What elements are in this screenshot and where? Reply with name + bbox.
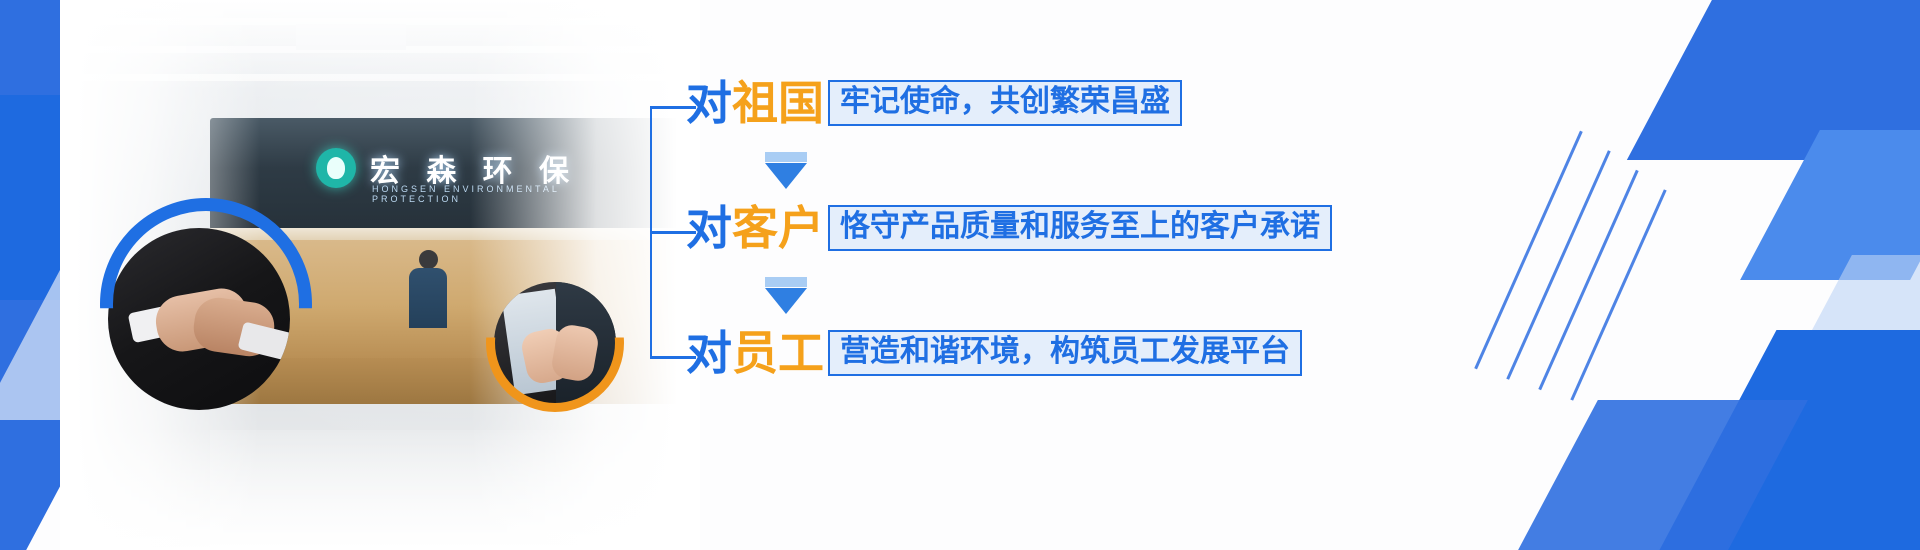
slogan-row-country: 对 祖国 牢记使命，共创繁荣昌盛 bbox=[686, 80, 1182, 126]
decoration-right-shape-2 bbox=[1740, 130, 1920, 280]
slogan-prefix: 对 bbox=[686, 330, 732, 376]
decoration-right-line-3 bbox=[1538, 170, 1638, 390]
slogan-statement: 恪守产品质量和服务至上的客户承诺 bbox=[840, 209, 1320, 244]
decoration-right-line-2 bbox=[1506, 150, 1610, 380]
decoration-right-line-4 bbox=[1570, 189, 1666, 400]
slogan-prefix: 对 bbox=[686, 80, 732, 126]
arrow-triangle bbox=[765, 288, 807, 314]
arrow-top-bar bbox=[765, 277, 807, 287]
slogan-row-employee: 对 员工 营造和谐环境，构筑员工发展平台 bbox=[686, 330, 1302, 376]
slogan-block: 对 祖国 牢记使命，共创繁荣昌盛 对 客户 恪守产品质量和服务至上的客户承诺 对… bbox=[650, 58, 1370, 408]
slogan-statement-box: 牢记使命，共创繁荣昌盛 bbox=[828, 80, 1182, 126]
slogan-statement: 牢记使命，共创繁荣昌盛 bbox=[840, 84, 1170, 119]
promo-banner: 宏 森 环 保 HONGSEN ENVIRONMENTAL PROTECTION bbox=[0, 0, 1920, 550]
arrow-top-bar bbox=[765, 152, 807, 162]
decoration-right-shape-4 bbox=[1502, 400, 1808, 550]
slogan-row-customer: 对 客户 恪守产品质量和服务至上的客户承诺 bbox=[686, 205, 1332, 251]
arrow-triangle bbox=[765, 163, 807, 189]
slogan-subject: 员工 bbox=[732, 330, 824, 376]
slogan-prefix: 对 bbox=[686, 205, 732, 251]
company-logo-icon bbox=[316, 148, 356, 188]
decoration-right-shape-5 bbox=[1788, 255, 1920, 375]
slogan-subject: 客户 bbox=[732, 205, 824, 251]
slogan-statement: 营造和谐环境，构筑员工发展平台 bbox=[840, 334, 1290, 369]
shirt-cuff-2 bbox=[237, 321, 290, 362]
receptionist-head bbox=[419, 250, 438, 269]
receptionist-body bbox=[409, 268, 447, 328]
receptionist-figure bbox=[405, 250, 451, 328]
decoration-right-shape-3 bbox=[1644, 330, 1920, 550]
slogan-subject: 祖国 bbox=[732, 80, 824, 126]
decoration-right-line-1 bbox=[1474, 131, 1582, 370]
slogan-statement-box: 营造和谐环境，构筑员工发展平台 bbox=[828, 330, 1302, 376]
slogan-statement-box: 恪守产品质量和服务至上的客户承诺 bbox=[828, 205, 1332, 251]
decoration-right-shape-1 bbox=[1627, 0, 1920, 160]
